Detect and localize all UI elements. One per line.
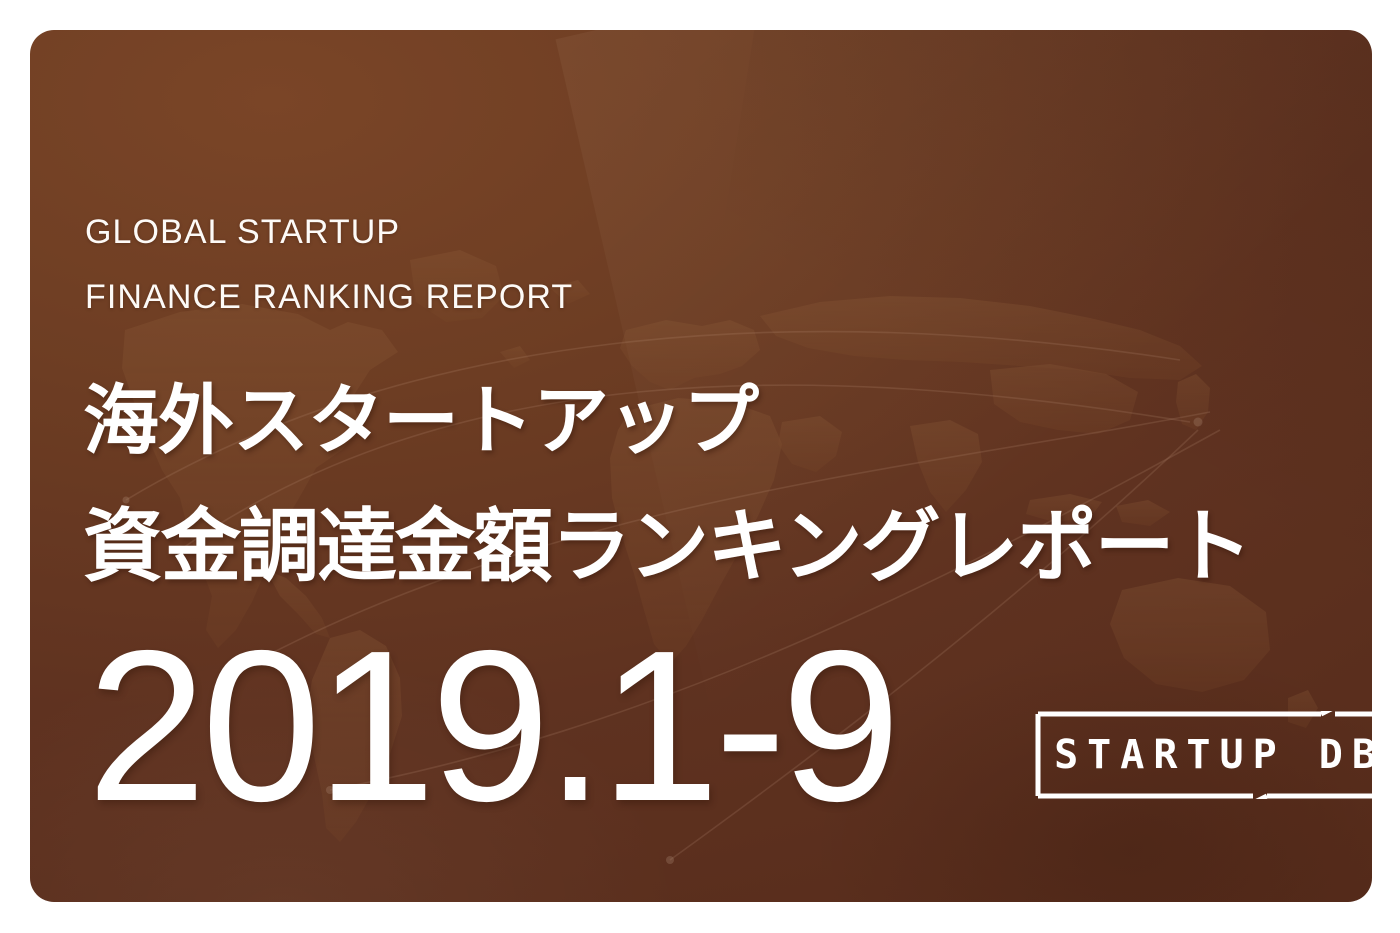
report-cover: GLOBAL STARTUP FINANCE RANKING REPORT 海外… — [0, 0, 1400, 933]
report-period: 2019.1-9 — [87, 618, 896, 833]
english-heading-line-1: GLOBAL STARTUP — [85, 213, 400, 252]
japanese-heading-line-2: 資金調達金額ランキングレポート — [83, 482, 1251, 598]
logo-wordmark: STARTUP DB — [1035, 711, 1372, 799]
japanese-heading-line-1: 海外スタートアップ — [83, 359, 758, 469]
cover-card: GLOBAL STARTUP FINANCE RANKING REPORT 海外… — [30, 30, 1372, 902]
startup-db-logo: STARTUP DB — [1035, 711, 1372, 799]
title-block: GLOBAL STARTUP FINANCE RANKING REPORT 海外… — [85, 30, 1372, 902]
english-heading-line-2: FINANCE RANKING REPORT — [85, 278, 573, 317]
